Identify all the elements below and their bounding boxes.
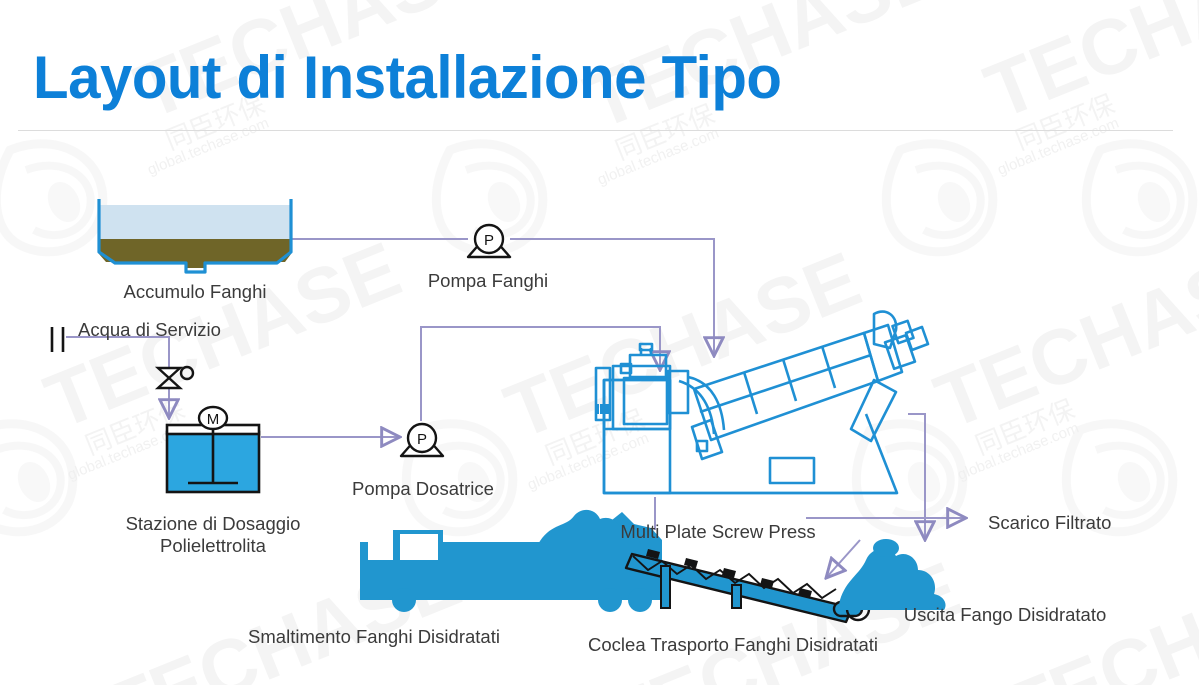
label-multi-plate-screw-press: Multi Plate Screw Press: [620, 521, 815, 542]
screw-conveyor: [626, 549, 869, 622]
flow-conveyor-to-pile: [826, 540, 860, 578]
valve-symbol: [158, 367, 193, 388]
water-supply-symbol: [52, 327, 63, 352]
label-stazione-dosaggio-line2: Polielettrolita: [160, 535, 266, 556]
process-flow-diagram: M P P: [0, 0, 1199, 685]
label-pompa-fanghi: Pompa Fanghi: [428, 270, 548, 291]
label-uscita-fango-disidratato: Uscita Fango Disidratato: [904, 604, 1107, 625]
label-stazione-dosaggio-line1: Stazione di Dosaggio: [126, 513, 301, 534]
slide-canvas: global.techase.com TECHASE TECHASE TECHA…: [0, 0, 1199, 685]
mixing-tank-motor: M: [167, 407, 259, 492]
pump-symbol-dosing: P: [401, 424, 443, 456]
flow-press-to-cake-outlet: [908, 414, 925, 540]
multi-plate-screw-press: [596, 312, 928, 493]
flow-pump-to-press: [510, 239, 714, 356]
label-smaltimento-fanghi: Smaltimento Fanghi Disidratati: [248, 626, 500, 647]
label-pompa-dosatrice: Pompa Dosatrice: [352, 478, 494, 499]
label-scarico-filtrato: Scarico Filtrato: [988, 512, 1111, 533]
sludge-storage-tank: [99, 199, 291, 272]
pump-symbol-sludge: P: [468, 225, 510, 257]
sludge-pile: [838, 539, 946, 610]
motor-glyph: M: [207, 411, 220, 428]
label-coclea-trasporto: Coclea Trasporto Fanghi Disidratati: [588, 634, 878, 655]
label-accumulo-fanghi: Accumulo Fanghi: [124, 281, 267, 302]
pump-glyph: P: [484, 232, 494, 249]
flow-water-to-valve: [66, 337, 169, 367]
label-acqua-di-servizio: Acqua di Servizio: [78, 319, 221, 340]
pump-glyph: P: [417, 431, 427, 448]
dump-truck: [360, 510, 662, 612]
